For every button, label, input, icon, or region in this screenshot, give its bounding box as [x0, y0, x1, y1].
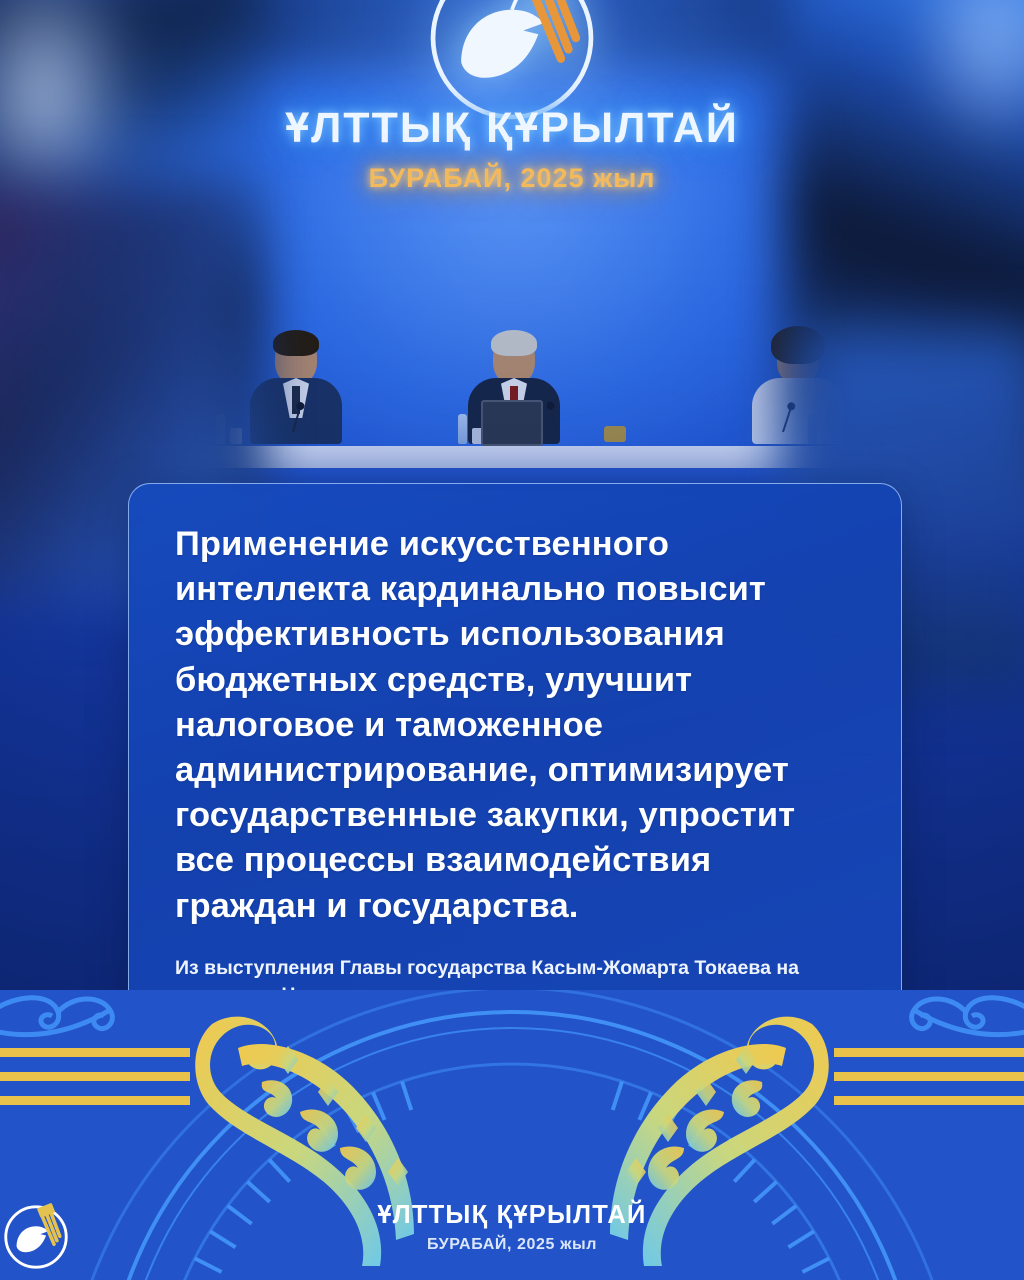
header-subtitle: БУРАБАЙ, 2025 жыл	[0, 163, 1024, 194]
gold-bars-right	[834, 1048, 1024, 1105]
footer-ornament-band: ҰЛТТЫҚ ҚҰРЫЛТАЙ БУРАБАЙ, 2025 жыл	[0, 990, 1024, 1280]
footer-brand: ҰЛТТЫҚ ҚҰРЫЛТАЙ БУРАБАЙ, 2025 жыл	[0, 1201, 1024, 1254]
footer-subtitle: БУРАБАЙ, 2025 жыл	[0, 1236, 1024, 1254]
quote-text: Применение искусственного интеллекта кар…	[175, 522, 855, 929]
poster-root: ҰЛТТЫҚ ҚҰРЫЛТАЙ БУРАБАЙ, 2025 жыл Примен…	[0, 0, 1024, 1280]
curl-ornament-right	[912, 998, 1024, 1035]
footer-title: ҰЛТТЫҚ ҚҰРЫЛТАЙ	[0, 1201, 1024, 1230]
kurultai-eagle-emblem-icon	[0, 1201, 72, 1273]
gold-bars-left	[0, 1048, 190, 1105]
curl-ornament-left	[0, 998, 112, 1035]
header-title: ҰЛТТЫҚ ҚҰРЫЛТАЙ	[0, 104, 1024, 153]
header-brand: ҰЛТТЫҚ ҚҰРЫЛТАЙ БУРАБАЙ, 2025 жыл	[0, 104, 1024, 194]
quote-card: Применение искусственного интеллекта кар…	[128, 483, 902, 1017]
